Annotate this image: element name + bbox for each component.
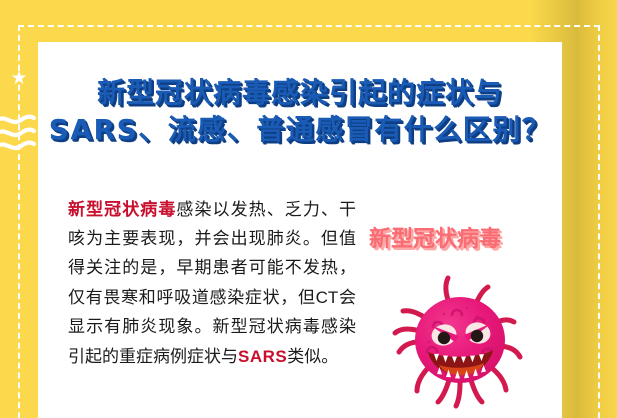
body-segment-3: 类似。	[287, 347, 338, 367]
star-icon: ★	[10, 70, 28, 88]
highlight-term-sars: SARS	[238, 347, 287, 366]
body-term-ct: CT	[316, 288, 339, 307]
highlight-term-covid: 新型冠状病毒	[68, 200, 176, 220]
headline-line-1: 新型冠状病毒感染引起的症状与	[38, 74, 562, 111]
wave-lines-icon	[0, 112, 38, 158]
angry-virus-character	[389, 270, 529, 410]
virus-label: 新型冠状病毒	[369, 227, 501, 253]
virus-illustration-svg	[389, 270, 529, 410]
infographic-poster: ★ 新型冠状病毒感染引起的症状与 SARS、流感、普通感冒有什么区别？ 新型冠状…	[0, 0, 617, 418]
body-paragraph: 新型冠状病毒感染以发热、乏力、干咳为主要表现，并会出现肺炎。但值得关注的是，早期…	[68, 196, 356, 372]
wave-lines-svg	[0, 112, 38, 158]
headline-line-2: SARS、流感、普通感冒有什么区别？	[38, 111, 562, 148]
page-title: 新型冠状病毒感染引起的症状与 SARS、流感、普通感冒有什么区别？	[38, 74, 562, 148]
